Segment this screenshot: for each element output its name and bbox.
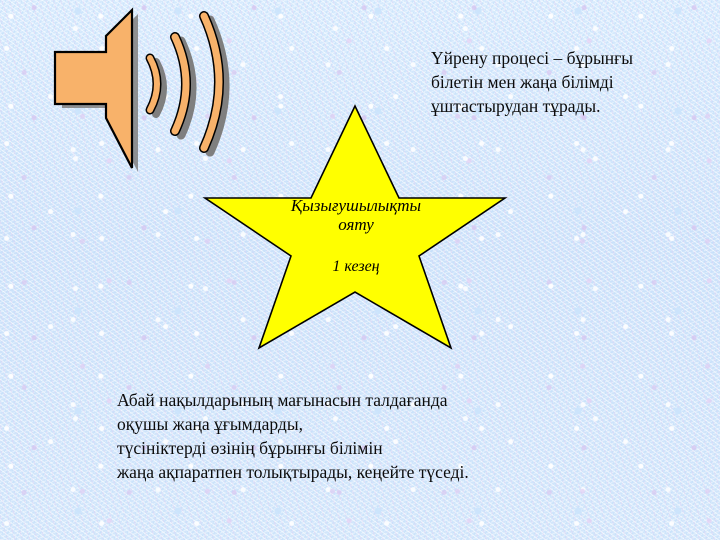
five-point-star xyxy=(195,98,515,358)
top-right-paragraph: Үйрену процесі – бұрынғы білетін мен жаң… xyxy=(431,46,711,118)
bottom-paragraph: Абай нақылдарының мағынасын талдағанда о… xyxy=(117,388,677,484)
star-polygon xyxy=(205,106,505,348)
loudspeaker-horn xyxy=(55,10,132,168)
presentation-slide: Қызығушылықты ояту 1 кезең Үйрену процес… xyxy=(0,0,720,540)
